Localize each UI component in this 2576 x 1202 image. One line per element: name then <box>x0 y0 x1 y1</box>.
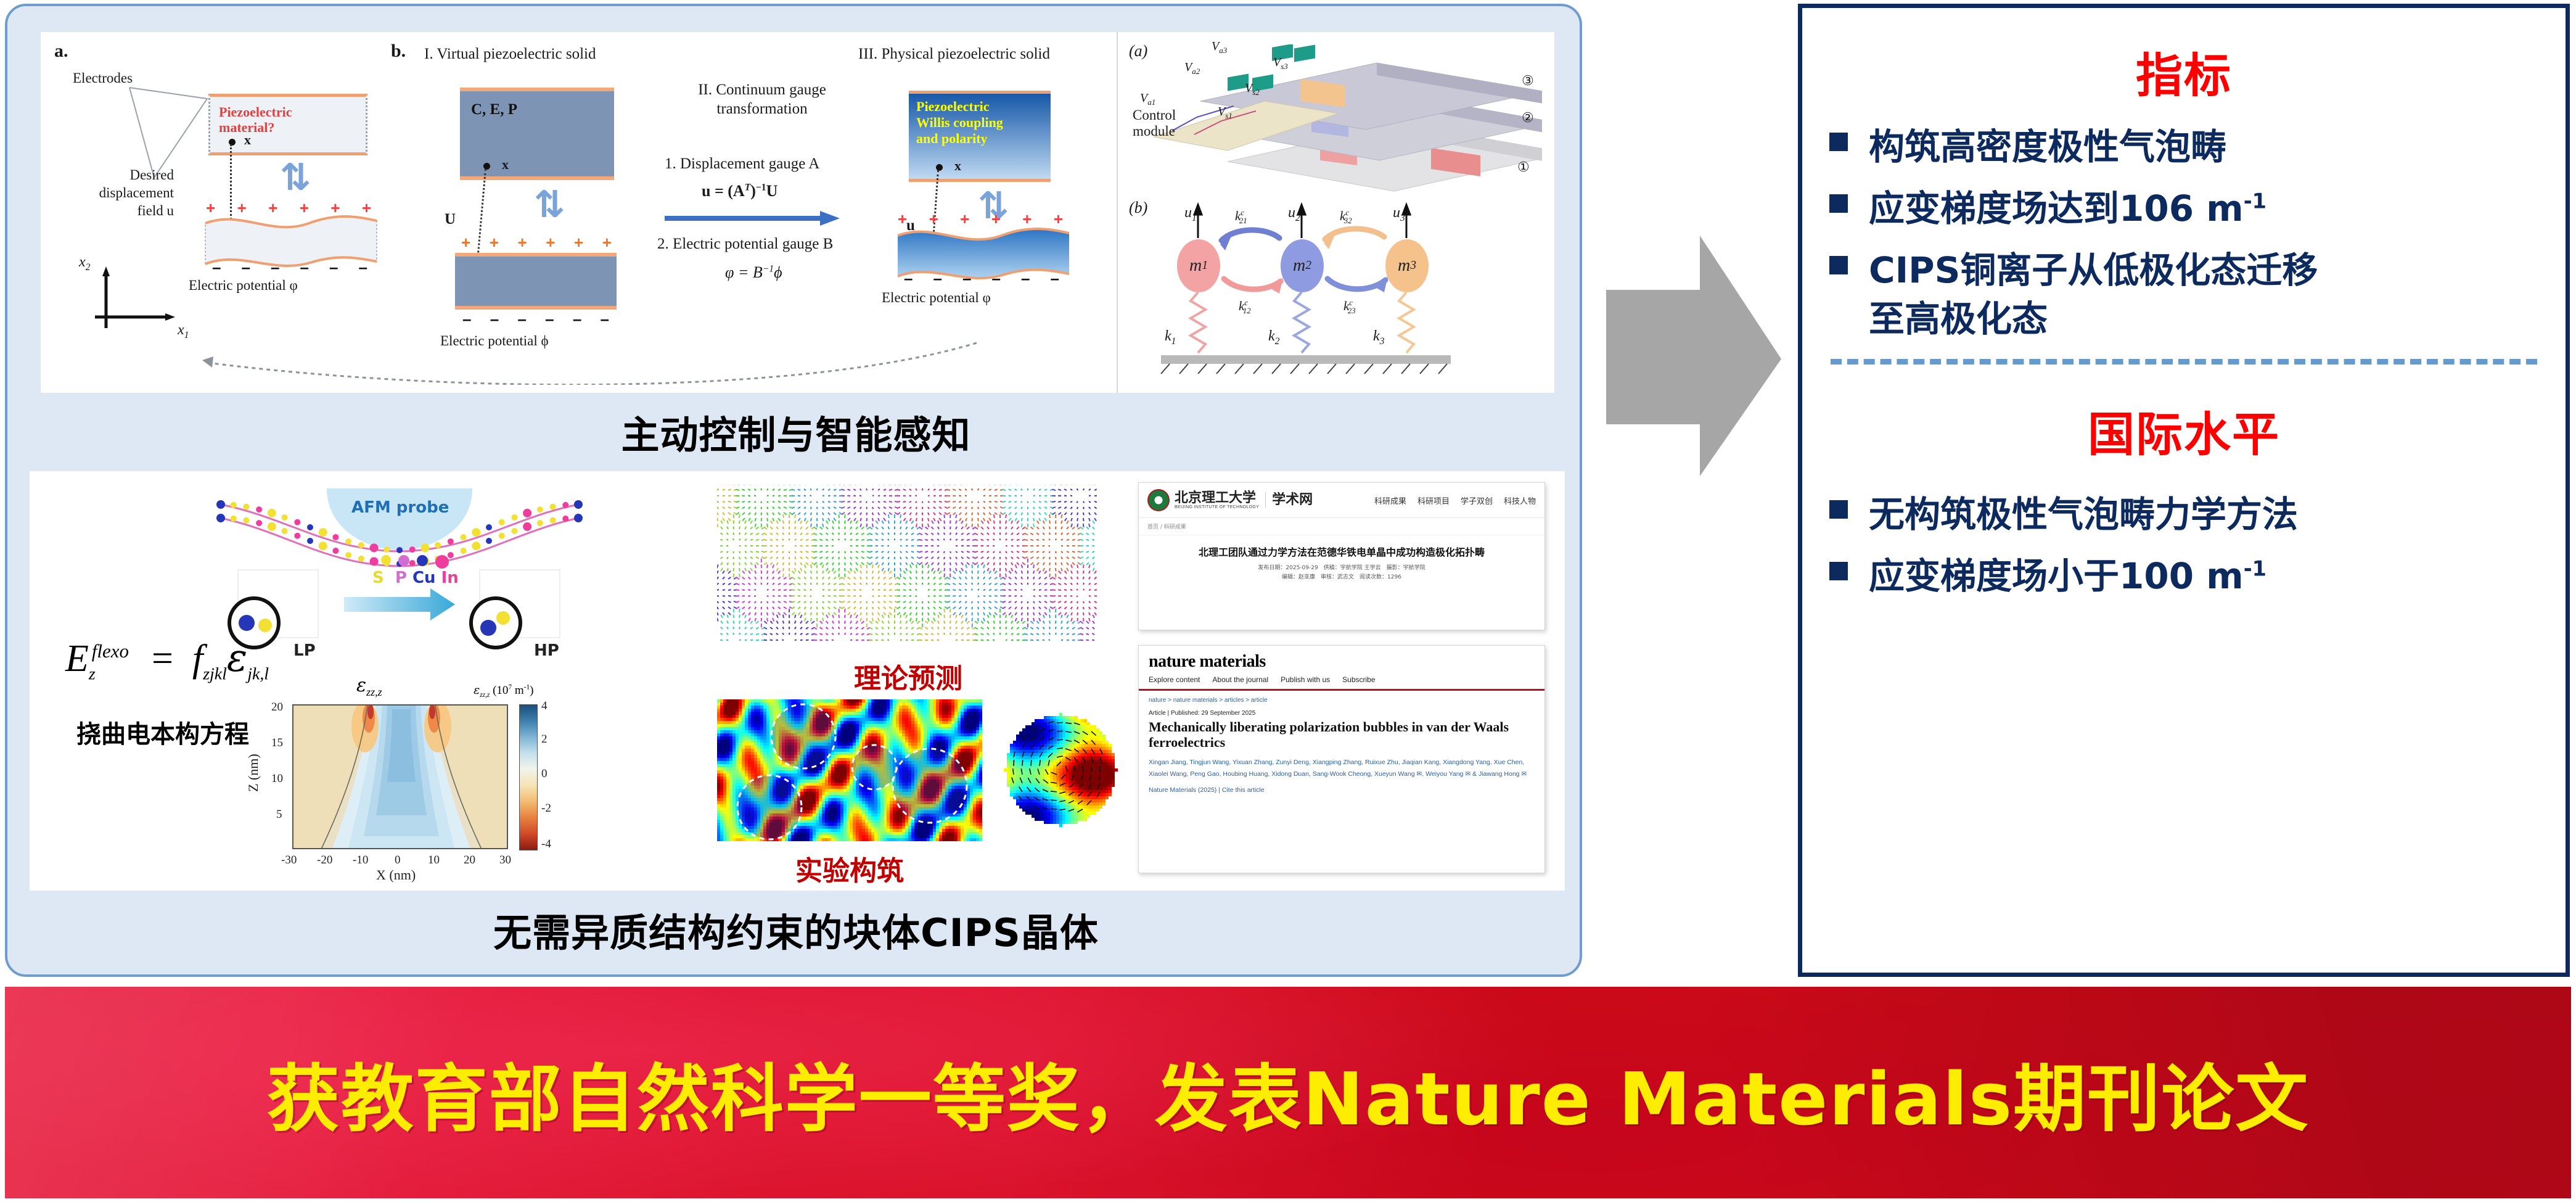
nav-item-3[interactable]: 科技人物 <box>1504 495 1536 506</box>
electric-potential-label-c: Electric potential φ <box>882 290 991 306</box>
bit-meta-line1: 发布日期：2025-09-29 供稿：宇航学院 王学云 摄影：宇航学院 <box>1139 564 1544 573</box>
contour-field <box>292 704 508 849</box>
nature-nav-2[interactable]: Publish with us <box>1281 675 1330 684</box>
element-legend-labels: S P Cu In <box>372 569 459 587</box>
bullet-square-icon <box>1829 500 1848 519</box>
coupling-k32c: kc32 <box>1340 208 1352 226</box>
xtick--20: -20 <box>317 854 332 867</box>
negative-charges-b: ––– ––– <box>462 311 609 327</box>
coupling-k21c: kc21 <box>1235 208 1247 226</box>
state-hp-label: HP <box>534 641 559 660</box>
metric-text-2: CIPS铜离子从低极化态迁移 <box>1869 247 2318 293</box>
bullet-square-icon <box>1829 256 1848 274</box>
international-text-0: 无构筑极性气泡畴力学方法 <box>1869 492 2298 537</box>
international-text-1: 应变梯度场小于100 m-1 <box>1869 553 2266 599</box>
voltage-vs2: Vs2 <box>1245 81 1260 97</box>
header-divider <box>1265 492 1266 508</box>
xtick--10: -10 <box>353 854 368 867</box>
flexoelectric-caption: 挠曲电本构方程 <box>76 714 249 750</box>
bit-site-nav[interactable]: 科研成果 科研项目 学子双创 科技人物 <box>1374 495 1536 506</box>
bullet-square-icon <box>1829 194 1848 213</box>
theory-vector-field-image <box>717 485 1099 645</box>
international-bullet-list: 无构筑极性气泡畴力学方法 应变梯度场小于100 m-1 <box>1802 492 2566 599</box>
element-legend <box>381 555 449 569</box>
nature-nav-0[interactable]: Explore content <box>1149 675 1200 684</box>
electric-potential-label-a: Electric potential φ <box>189 278 298 294</box>
step1-title: I. Virtual piezoelectric solid <box>424 46 596 63</box>
nature-nav-1[interactable]: About the journal <box>1212 675 1268 684</box>
nature-logo: nature materials <box>1139 646 1544 675</box>
ctick-4: 4 <box>541 699 548 713</box>
nature-authors[interactable]: Xingan Jiang, Tingjun Wang, Yixuan Zhang… <box>1139 755 1544 784</box>
step2-title: II. Continuum gauge transformation <box>670 80 855 119</box>
potential-gauge-item: 2. Electric potential gauge B <box>657 236 833 253</box>
voltage-va3: Va3 <box>1212 39 1227 56</box>
afm-probe-label: AFM probe <box>351 498 449 517</box>
double-arrow-a: ⇅ <box>280 159 311 196</box>
metric-bullet-2-continuation: 至高极化态 <box>1802 290 2566 342</box>
xtick--30: -30 <box>281 854 297 867</box>
displacement-u1: u1 <box>1184 205 1197 224</box>
nature-nav[interactable]: Explore content About the journal Publis… <box>1139 675 1544 689</box>
top-figure-card: a. Electrodes Piezoelectric material? x … <box>41 32 1554 393</box>
metrics-heading: 指标 <box>1802 38 2566 105</box>
nature-article-title: Mechanically liberating polarization bub… <box>1139 718 1544 755</box>
international-heading: 国际水平 <box>1802 397 2566 464</box>
section-divider <box>1831 359 2537 364</box>
point-x-label-a: x <box>244 132 251 148</box>
displacement-u3: u3 <box>1393 205 1405 224</box>
coupling-k23c: kc23 <box>1343 298 1356 316</box>
control-module-label: Control module <box>1133 107 1176 140</box>
material-question-line1: Piezoelectric <box>219 104 292 120</box>
bit-meta-line2: 编辑：赵亚康 审核：武志文 阅读次数：1296 <box>1139 573 1544 582</box>
willis-line3: and polarity <box>916 131 1003 147</box>
positive-charges-a: +++ +++ <box>206 200 371 216</box>
flow-arrow <box>1601 197 1786 518</box>
negative-charges-a: ––– ––– <box>212 259 367 275</box>
spring-k1: k1 <box>1165 328 1176 347</box>
bit-news-screenshot[interactable]: 北京理工大学 BEIJING INSTITUTE OF TECHNOLOGY 学… <box>1138 482 1545 630</box>
virtual-solid-slab-bottom <box>455 253 617 310</box>
nature-breadcrumb[interactable]: nature > nature materials > articles > a… <box>1139 691 1544 706</box>
xtick-20: 20 <box>464 854 475 867</box>
negative-charges-c: ––– ––– <box>904 270 1059 286</box>
slide-root: a. Electrodes Piezoelectric material? x … <box>0 0 2576 1202</box>
metric-text-0: 构筑高密度极性气泡畴 <box>1869 124 2226 170</box>
bit-site-section: 学术网 <box>1272 493 1313 507</box>
contour-colorbar <box>519 704 538 850</box>
willis-line2: Willis coupling <box>916 115 1003 131</box>
state-lp-label: LP <box>293 641 316 660</box>
lp-hp-transition: S P Cu In LP HP <box>227 564 585 675</box>
feedback-arc <box>201 335 984 385</box>
displacement-u2: u2 <box>1288 205 1300 224</box>
xtick-30: 30 <box>499 854 511 867</box>
voltage-va1: Va1 <box>1140 91 1155 107</box>
axis-label-x1: x1 <box>178 322 189 341</box>
bottom-figure-card: Ezflexo = fzjklεjk,l 挠曲电本构方程 AFM probe <box>30 471 1565 891</box>
contour-plot-title: εzz,z <box>356 675 382 699</box>
experiment-caption: 实验构筑 <box>717 849 982 888</box>
mass-m3: m3 <box>1385 239 1429 292</box>
award-banner-text: 获教育部自然科学一等奖，发表Nature Materials期刊论文 <box>267 1040 2310 1145</box>
bit-headline: 北理工团队通过力学方法在范德华铁电单晶中成功构造极化拓扑畴 <box>1139 535 1544 564</box>
metric-bullet-1: 应变梯度场达到106 m-1 <box>1802 186 2566 231</box>
theory-caption: 理论预测 <box>717 656 1099 696</box>
bit-site-name-en: BEIJING INSTITUTE OF TECHNOLOGY <box>1175 505 1259 509</box>
nature-materials-screenshot[interactable]: nature materials Explore content About t… <box>1138 645 1545 873</box>
nature-nav-3[interactable]: Subscribe <box>1342 675 1375 684</box>
beam-number-1: ① <box>1517 159 1530 175</box>
coupling-k12c: kc12 <box>1239 298 1251 316</box>
left-content-panel: a. Electrodes Piezoelectric material? x … <box>5 4 1582 977</box>
potential-gauge-equation: φ = B−1ϕ <box>725 263 782 282</box>
panel-b-letter: b. <box>391 41 406 62</box>
xtick-0: 0 <box>395 854 401 867</box>
positive-charges-c: +++ +++ <box>898 211 1063 227</box>
metrics-bullet-list: 构筑高密度极性气泡畴 应变梯度场达到106 m-1 CIPS铜离子从低极化态迁移… <box>1802 124 2566 342</box>
ytick-5: 5 <box>276 808 282 821</box>
voltage-vs3: Vs3 <box>1273 56 1288 72</box>
ytick-15: 15 <box>271 736 283 750</box>
voltage-vs1: Vs1 <box>1218 105 1233 121</box>
point-x-label-b: x <box>502 157 509 173</box>
desired-displacement-label: Desired displacement field u <box>63 167 174 220</box>
experiment-pfm-image <box>717 699 982 841</box>
caption-active-control: 主动控制与智能感知 <box>7 404 1585 459</box>
nav-item-2[interactable]: 学子双创 <box>1461 495 1493 506</box>
bullet-square-icon <box>1829 133 1848 151</box>
strain-gradient-contour-plot: εzz,z εzz,z (107 m-1) <box>233 675 615 884</box>
xtick-10: 10 <box>428 854 440 867</box>
nature-kicker: Article | Published: 29 September 2025 <box>1139 706 1544 718</box>
bit-site-name: 北京理工大学 <box>1175 492 1259 505</box>
ctick-2: 2 <box>541 733 548 746</box>
mass-spring-diagram <box>1142 201 1543 386</box>
coordinate-axes <box>89 260 181 340</box>
voltage-va2: Va2 <box>1184 60 1200 76</box>
ytick-10: 10 <box>271 772 283 786</box>
axis-label-x2: x2 <box>79 254 90 273</box>
bit-logo-icon <box>1147 489 1170 511</box>
beam-number-2: ② <box>1522 110 1534 126</box>
beam-number-3: ③ <box>1522 73 1534 89</box>
metrics-panel: 指标 构筑高密度极性气泡畴 应变梯度场达到106 m-1 CIPS铜离子从低极化… <box>1798 4 2570 977</box>
metamaterial-control-figure: (a) <box>1117 32 1554 393</box>
double-arrow-b: ⇅ <box>534 186 565 223</box>
step3-title: III. Physical piezoelectric solid <box>858 46 1050 63</box>
colorbar-title: εzz,z (107 m-1) <box>474 683 534 699</box>
transformation-arrow <box>663 211 842 227</box>
experiment-zoom-image <box>998 707 1121 833</box>
panel-a-letter: a. <box>54 41 68 62</box>
piezo-slab-unknown: Piezoelectric material? <box>208 94 367 155</box>
bullet-square-icon <box>1829 562 1848 580</box>
piezoelectric-gauge-figure: a. Electrodes Piezoelectric material? x … <box>41 32 1114 393</box>
material-question-line2: material? <box>219 120 292 135</box>
spring-k2: k2 <box>1268 328 1279 347</box>
mass-m2: m2 <box>1281 239 1324 292</box>
bit-site-header: 北京理工大学 BEIJING INSTITUTE OF TECHNOLOGY 学… <box>1139 483 1544 518</box>
bit-breadcrumb[interactable]: 首页 / 科研成果 <box>1139 518 1544 535</box>
ytick-20: 20 <box>271 701 283 714</box>
U-label: U <box>445 211 456 228</box>
bit-meta: 发布日期：2025-09-29 供稿：宇航学院 王学云 摄影：宇航学院 编辑：赵… <box>1139 564 1544 590</box>
nature-footer[interactable]: Nature Materials (2025) | Cite this arti… <box>1139 784 1544 800</box>
metric-text-1: 应变梯度场达到106 m-1 <box>1869 186 2266 231</box>
international-bullet-1: 应变梯度场小于100 m-1 <box>1802 553 2566 599</box>
positive-charges-b: +++ +++ <box>461 234 612 250</box>
spring-k3: k3 <box>1373 328 1384 347</box>
nav-item-0[interactable]: 科研成果 <box>1374 495 1406 506</box>
point-x-label-c: x <box>954 158 961 174</box>
contour-ylabel: Z (nm) <box>245 754 261 792</box>
metric-text-2-cont: 至高极化态 <box>1869 290 2566 342</box>
displacement-gauge-equation: u = (AT)−1U <box>702 182 777 200</box>
international-bullet-0: 无构筑极性气泡畴力学方法 <box>1802 492 2566 537</box>
ctick--2: -2 <box>541 802 551 815</box>
willis-line1: Piezoelectric <box>916 99 1003 115</box>
displacement-gauge-item: 1. Displacement gauge A <box>665 155 819 173</box>
award-banner: 获教育部自然科学一等奖，发表Nature Materials期刊论文 <box>5 987 2571 1198</box>
nav-item-1[interactable]: 科研项目 <box>1417 495 1450 506</box>
ctick-0: 0 <box>541 767 548 781</box>
mass-m1: m1 <box>1177 239 1220 292</box>
metric-bullet-2: CIPS铜离子从低极化态迁移 <box>1802 247 2566 293</box>
physical-solid-slab: Piezoelectric Willis coupling and polari… <box>909 91 1051 182</box>
metric-bullet-0: 构筑高密度极性气泡畴 <box>1802 124 2566 170</box>
electrodes-label: Electrodes <box>73 70 133 86</box>
contour-xlabel: X (nm) <box>376 867 416 883</box>
caption-bulk-cips: 无需异质结构约束的块体CIPS晶体 <box>7 902 1585 957</box>
ctick--4: -4 <box>541 838 551 851</box>
